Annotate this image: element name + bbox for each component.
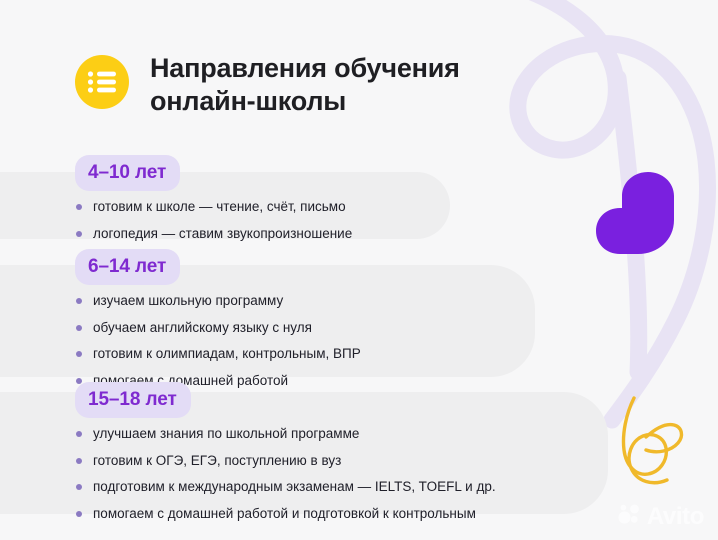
poster-header: Направления обучения онлайн-школы (75, 50, 460, 118)
page-title: Направления обучения онлайн-школы (150, 50, 460, 118)
list-item: логопедия — ставим звукопроизношение (75, 227, 352, 241)
list-item-label: готовим к олимпиадам, контрольным, ВПР (93, 346, 361, 361)
bullet-dot-icon (76, 431, 82, 437)
list-item: готовим к олимпиадам, контрольным, ВПР (75, 347, 361, 361)
poster-canvas: Направления обучения онлайн-школы 4–10 л… (0, 0, 718, 540)
list-item-label: готовим к ОГЭ, ЕГЭ, поступлению в вуз (93, 453, 341, 468)
bullet-dot-icon (76, 325, 82, 331)
age-section-4-10: 4–10 лет готовим к школе — чтение, счёт,… (75, 155, 352, 240)
list-item: изучаем школьную программу (75, 294, 361, 308)
bullet-dot-icon (76, 484, 82, 490)
list-item-label: улучшаем знания по школьной программе (93, 426, 359, 441)
list-item: улучшаем знания по школьной программе (75, 427, 496, 441)
list-item-label: готовим к школе — чтение, счёт, письмо (93, 199, 346, 214)
list-item-label: помогаем с домашней работой и подготовко… (93, 506, 476, 521)
age-section-15-18: 15–18 лет улучшаем знания по школьной пр… (75, 382, 496, 520)
bullet-dot-icon (76, 511, 82, 517)
age-badge: 6–14 лет (75, 249, 180, 285)
list-item: подготовим к международным экзаменам — I… (75, 480, 496, 494)
benefit-list: улучшаем знания по школьной программе го… (75, 427, 496, 520)
benefit-list: готовим к школе — чтение, счёт, письмо л… (75, 200, 352, 240)
bullet-dot-icon (76, 351, 82, 357)
list-item-label: логопедия — ставим звукопроизношение (93, 226, 352, 241)
avito-wordmark: Avito (647, 505, 704, 529)
bullet-dot-icon (76, 204, 82, 210)
avito-watermark: Avito (618, 504, 704, 529)
list-item: готовим к школе — чтение, счёт, письмо (75, 200, 352, 214)
list-item-label: обучаем английскому языку с нуля (93, 320, 312, 335)
bullet-dot-icon (76, 298, 82, 304)
bulleted-list-icon (75, 55, 129, 109)
list-item: готовим к ОГЭ, ЕГЭ, поступлению в вуз (75, 454, 496, 468)
purple-hook-shape (596, 172, 698, 254)
bullet-dot-icon (76, 231, 82, 237)
yellow-squiggle-e (623, 398, 681, 483)
list-item: обучаем английскому языку с нуля (75, 321, 361, 335)
list-item-label: изучаем школьную программу (93, 293, 283, 308)
avito-dots-logo (618, 504, 642, 529)
benefit-list: изучаем школьную программу обучаем англи… (75, 294, 361, 387)
list-item: помогаем с домашней работой и подготовко… (75, 507, 496, 521)
age-badge: 15–18 лет (75, 382, 191, 418)
age-section-6-14: 6–14 лет изучаем школьную программу обуч… (75, 249, 361, 387)
age-badge: 4–10 лет (75, 155, 180, 191)
bullet-dot-icon (76, 458, 82, 464)
list-item-label: подготовим к международным экзаменам — I… (93, 479, 496, 494)
